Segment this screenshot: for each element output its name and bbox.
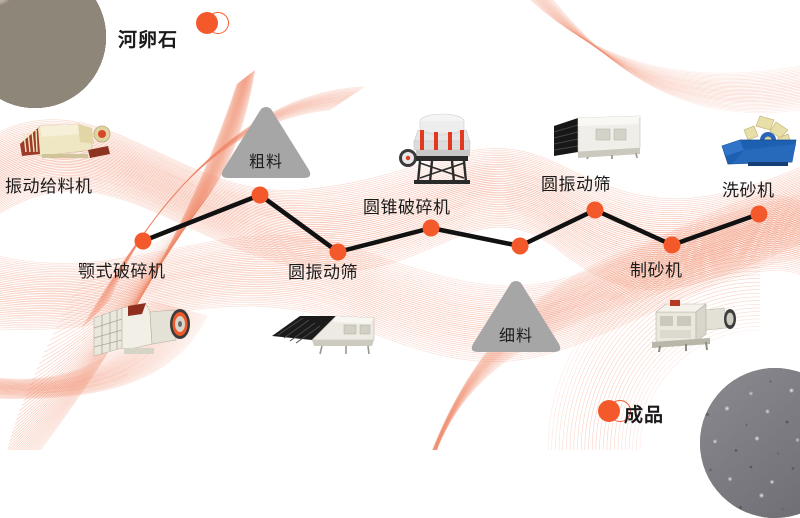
jaw-crusher-icon xyxy=(88,300,198,362)
node-label-cone-crusher: 圆锥破碎机 xyxy=(363,193,451,218)
finished-product-texture xyxy=(700,368,800,518)
flow-diagram-canvas: 河卵石 成品 粗料 细料 xyxy=(0,0,800,450)
vibrating-feeder-icon xyxy=(18,114,114,162)
node-label-sand-maker: 制砂机 xyxy=(630,256,683,281)
cobblestone-photo xyxy=(0,0,106,108)
raw-material-label: 河卵石 xyxy=(118,25,178,52)
node-label-vibrating-screen-1: 圆振动筛 xyxy=(288,258,358,283)
sand-maker-icon xyxy=(650,298,742,354)
vibrating-screen-2-icon xyxy=(552,112,656,160)
fine-material-tag: 细料 xyxy=(468,278,564,356)
coarse-material-tag: 粗料 xyxy=(218,104,314,182)
raw-material-ring xyxy=(207,12,229,34)
node-label-jaw-crusher: 颚式破碎机 xyxy=(78,257,166,282)
fine-material-label: 细料 xyxy=(499,322,533,346)
diagram-content: 河卵石 成品 粗料 细料 xyxy=(0,0,800,450)
sand-washer-icon xyxy=(718,112,798,168)
node-label-vibrating-feeder: 振动给料机 xyxy=(5,172,93,197)
node-label-sand-washer: 洗砂机 xyxy=(722,176,775,201)
vibrating-screen-1-icon xyxy=(270,310,380,358)
product-photo xyxy=(700,368,800,518)
cobblestone-texture xyxy=(0,0,106,108)
finished-product-label: 成品 xyxy=(624,400,664,427)
node-label-vibrating-screen-2: 圆振动筛 xyxy=(541,170,611,195)
cone-crusher-icon xyxy=(396,108,478,188)
coarse-material-label: 粗料 xyxy=(249,148,283,172)
